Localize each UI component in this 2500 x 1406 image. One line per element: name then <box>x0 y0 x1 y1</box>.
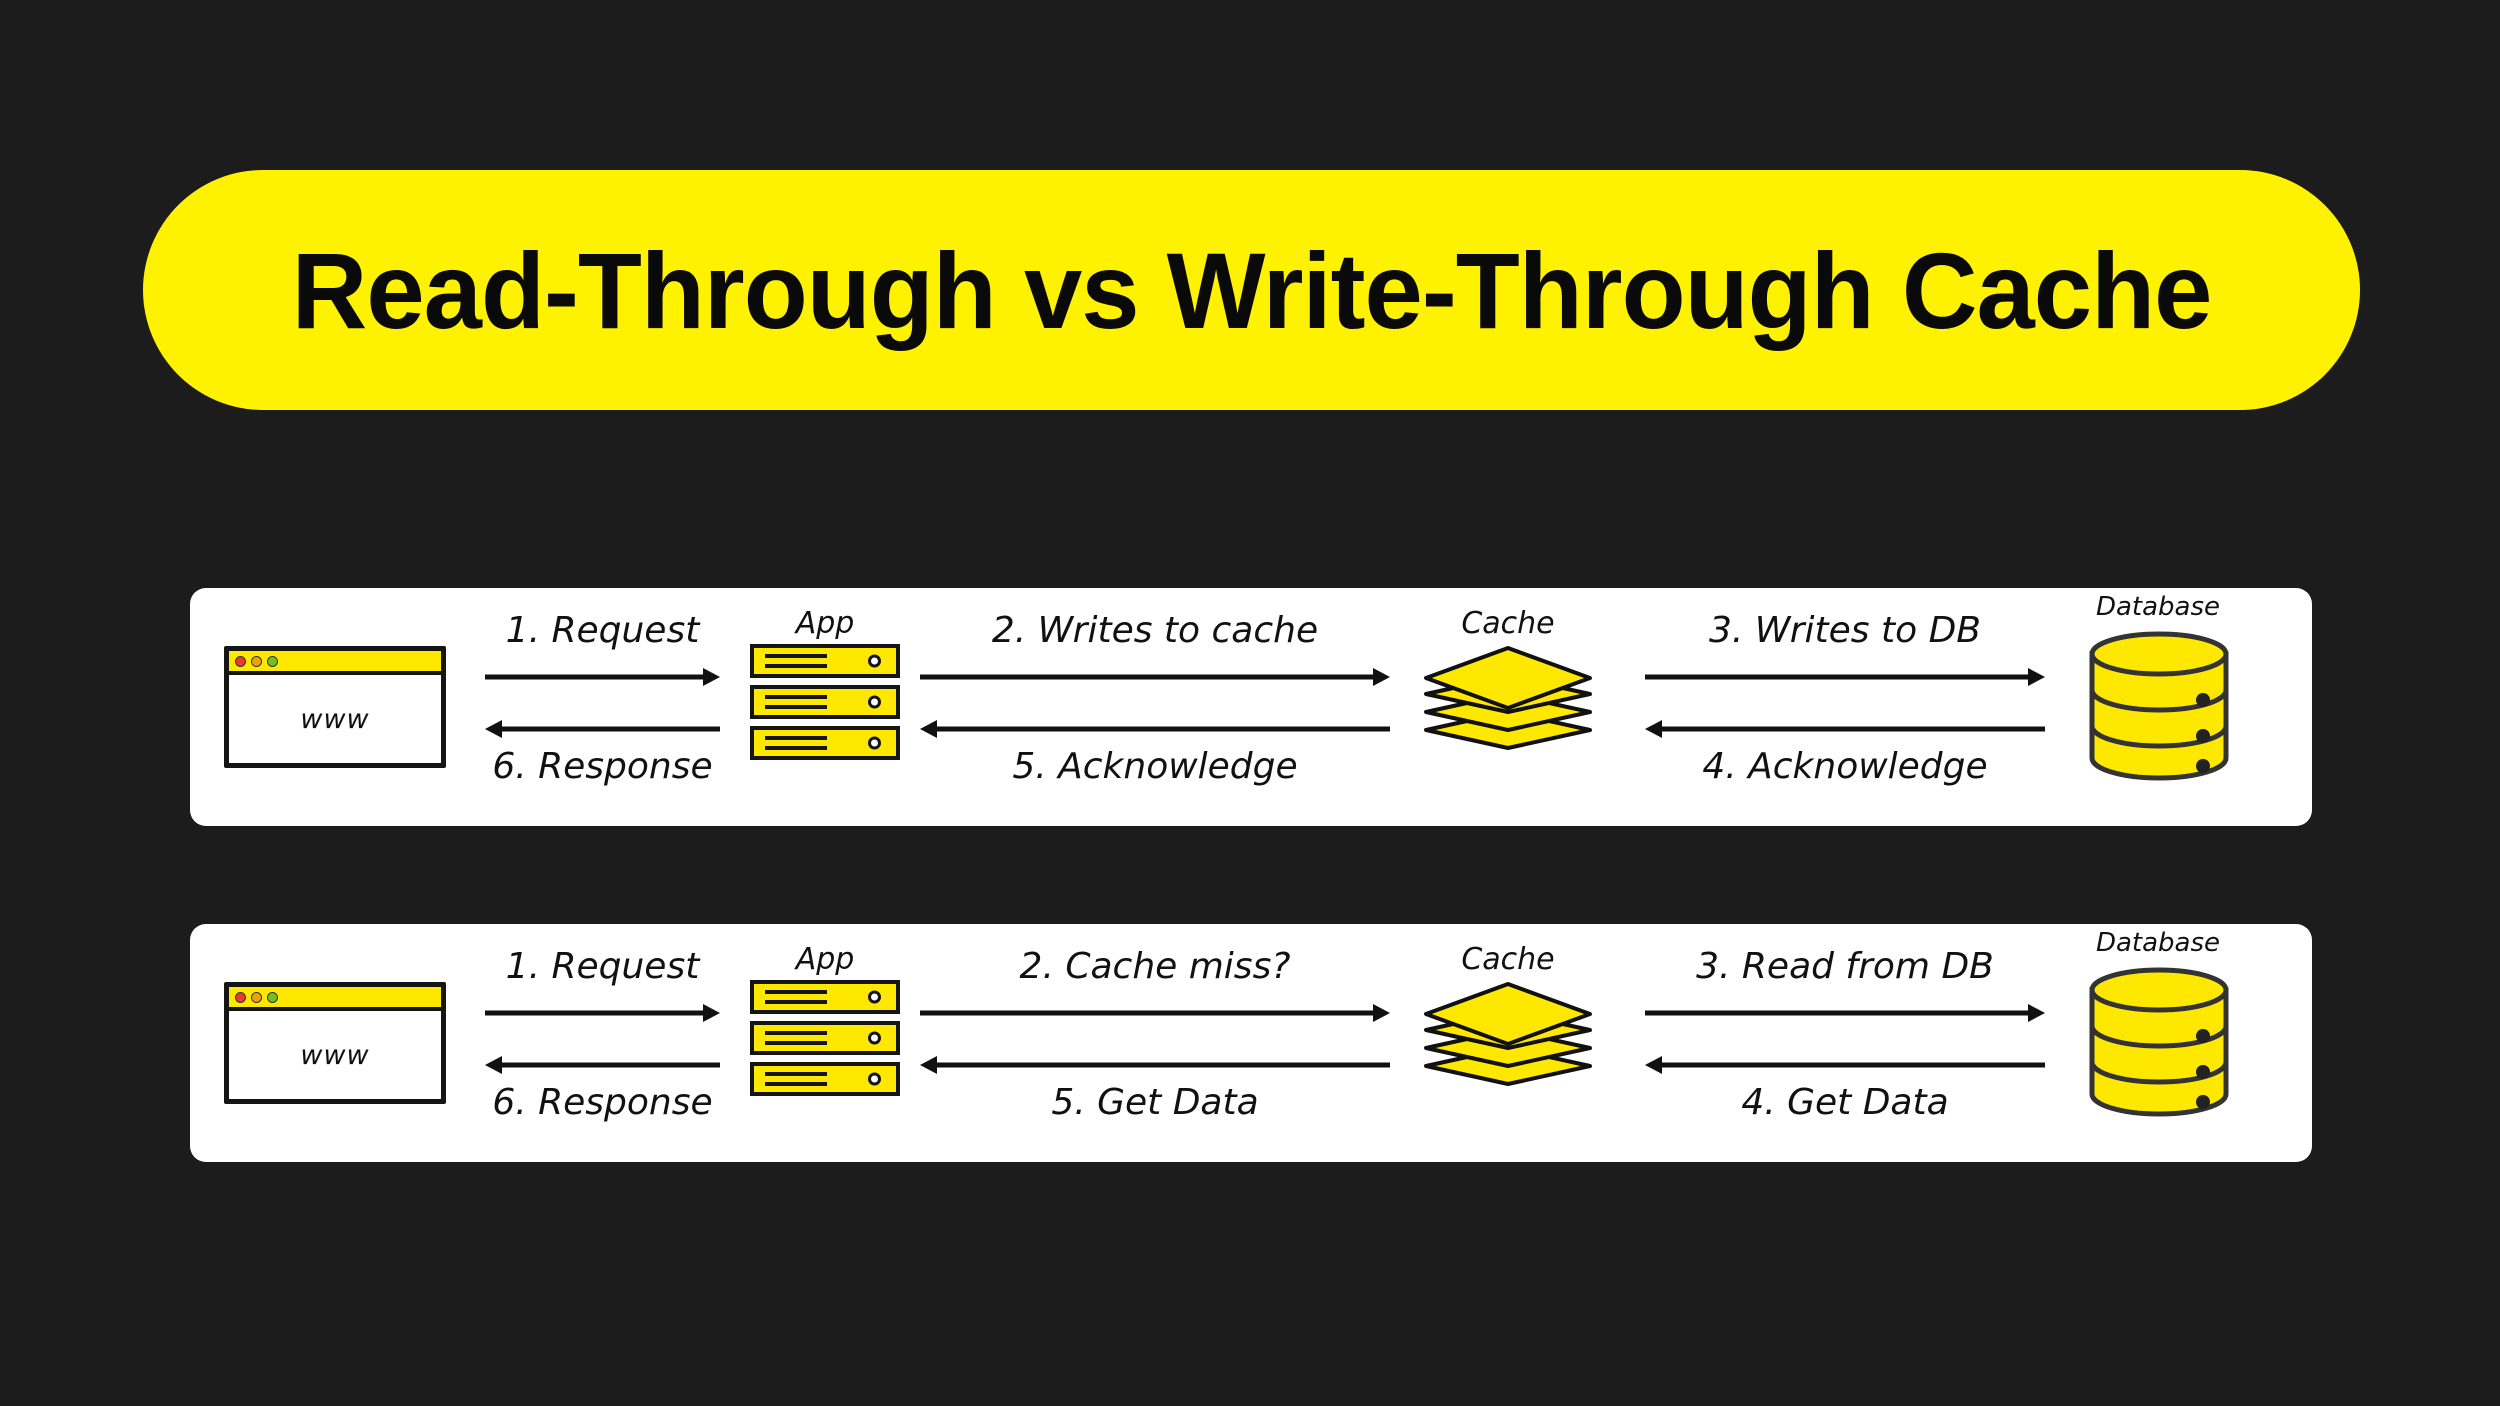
server-unit <box>750 1021 900 1055</box>
client-label: www <box>300 704 369 735</box>
flow-label-forward: 2. Writes to cache <box>920 610 1390 651</box>
flow-label-backward: 5. Get Data <box>920 1082 1390 1123</box>
flow-app-cache: 2. Cache miss? 5. Get Data <box>920 924 1390 1162</box>
flow-cache-db: 3. Writes to DB 4. Acknowledge <box>1645 588 2045 826</box>
server-lines-icon <box>765 654 827 668</box>
flow-label-backward: 6. Response <box>485 746 720 787</box>
arrow-backward <box>485 718 720 740</box>
browser-titlebar <box>229 987 441 1011</box>
close-dot-icon <box>235 992 246 1003</box>
layers-icon <box>1418 982 1598 1086</box>
server-led-icon <box>868 1073 881 1086</box>
arrow-backward <box>1645 718 2045 740</box>
server-lines-icon <box>765 1072 827 1086</box>
maximize-dot-icon <box>267 656 278 667</box>
arrow-backward <box>1645 1054 2045 1076</box>
client-label: www <box>300 1040 369 1071</box>
flow-label-forward: 1. Request <box>485 610 720 651</box>
flow-cache-db: 3. Read from DB 4. Get Data <box>1645 924 2045 1162</box>
server-lines-icon <box>765 1031 827 1045</box>
browser-viewport: www <box>229 675 441 763</box>
app-label: App <box>750 942 900 977</box>
flow-label-backward: 4. Get Data <box>1645 1082 2045 1123</box>
server-stack-icon <box>750 980 900 1096</box>
arrow-forward <box>920 666 1390 688</box>
flow-label-backward: 6. Response <box>485 1082 720 1123</box>
server-unit <box>750 685 900 719</box>
db-indicator-dot <box>2196 693 2210 707</box>
read-through-diagram-card: www 1. Request 6. Response App <box>190 924 2312 1162</box>
app-label: App <box>750 606 900 641</box>
database-cylinder-icon <box>2088 968 2230 1116</box>
page-title: Read-Through vs Write-Through Cache <box>292 228 2212 353</box>
server-unit <box>750 980 900 1014</box>
arrow-forward <box>485 1002 720 1024</box>
arrow-backward <box>920 718 1390 740</box>
server-unit <box>750 644 900 678</box>
server-led-icon <box>868 737 881 750</box>
minimize-dot-icon <box>251 992 262 1003</box>
arrow-forward <box>1645 1002 2045 1024</box>
browser-viewport: www <box>229 1011 441 1099</box>
maximize-dot-icon <box>267 992 278 1003</box>
server-led-icon <box>868 655 881 668</box>
arrow-forward <box>485 666 720 688</box>
server-lines-icon <box>765 736 827 750</box>
browser-window-icon: www <box>224 646 446 768</box>
arrow-backward <box>920 1054 1390 1076</box>
flow-client-app: 1. Request 6. Response <box>485 588 720 826</box>
flow-label-backward: 5. Acknowledge <box>920 746 1390 787</box>
db-indicator-dot <box>2196 1065 2210 1079</box>
arrow-forward <box>1645 666 2045 688</box>
db-indicator-dot <box>2196 729 2210 743</box>
write-through-diagram-card: www 1. Request 6. Response App <box>190 588 2312 826</box>
database-label: Database <box>2078 928 2238 958</box>
arrow-forward <box>920 1002 1390 1024</box>
server-led-icon <box>868 696 881 709</box>
server-lines-icon <box>765 990 827 1004</box>
flow-label-forward: 1. Request <box>485 946 720 987</box>
flow-label-forward: 3. Read from DB <box>1645 946 2045 987</box>
flow-label-backward: 4. Acknowledge <box>1645 746 2045 787</box>
browser-titlebar <box>229 651 441 675</box>
server-led-icon <box>868 1032 881 1045</box>
flow-app-cache: 2. Writes to cache 5. Acknowledge <box>920 588 1390 826</box>
flow-label-forward: 2. Cache miss? <box>920 946 1390 987</box>
server-stack-icon <box>750 644 900 760</box>
db-indicator-dot <box>2196 759 2210 773</box>
flow-client-app: 1. Request 6. Response <box>485 924 720 1162</box>
cache-label: Cache <box>1418 606 1598 641</box>
browser-window-icon: www <box>224 982 446 1104</box>
cache-label: Cache <box>1418 942 1598 977</box>
database-cylinder-icon <box>2088 632 2230 780</box>
close-dot-icon <box>235 656 246 667</box>
title-banner: Read-Through vs Write-Through Cache <box>143 170 2360 410</box>
db-indicator-dot <box>2196 1095 2210 1109</box>
server-lines-icon <box>765 695 827 709</box>
minimize-dot-icon <box>251 656 262 667</box>
server-led-icon <box>868 991 881 1004</box>
database-label: Database <box>2078 592 2238 622</box>
flow-label-forward: 3. Writes to DB <box>1645 610 2045 651</box>
layers-icon <box>1418 646 1598 750</box>
arrow-backward <box>485 1054 720 1076</box>
server-unit <box>750 1062 900 1096</box>
db-indicator-dot <box>2196 1029 2210 1043</box>
server-unit <box>750 726 900 760</box>
